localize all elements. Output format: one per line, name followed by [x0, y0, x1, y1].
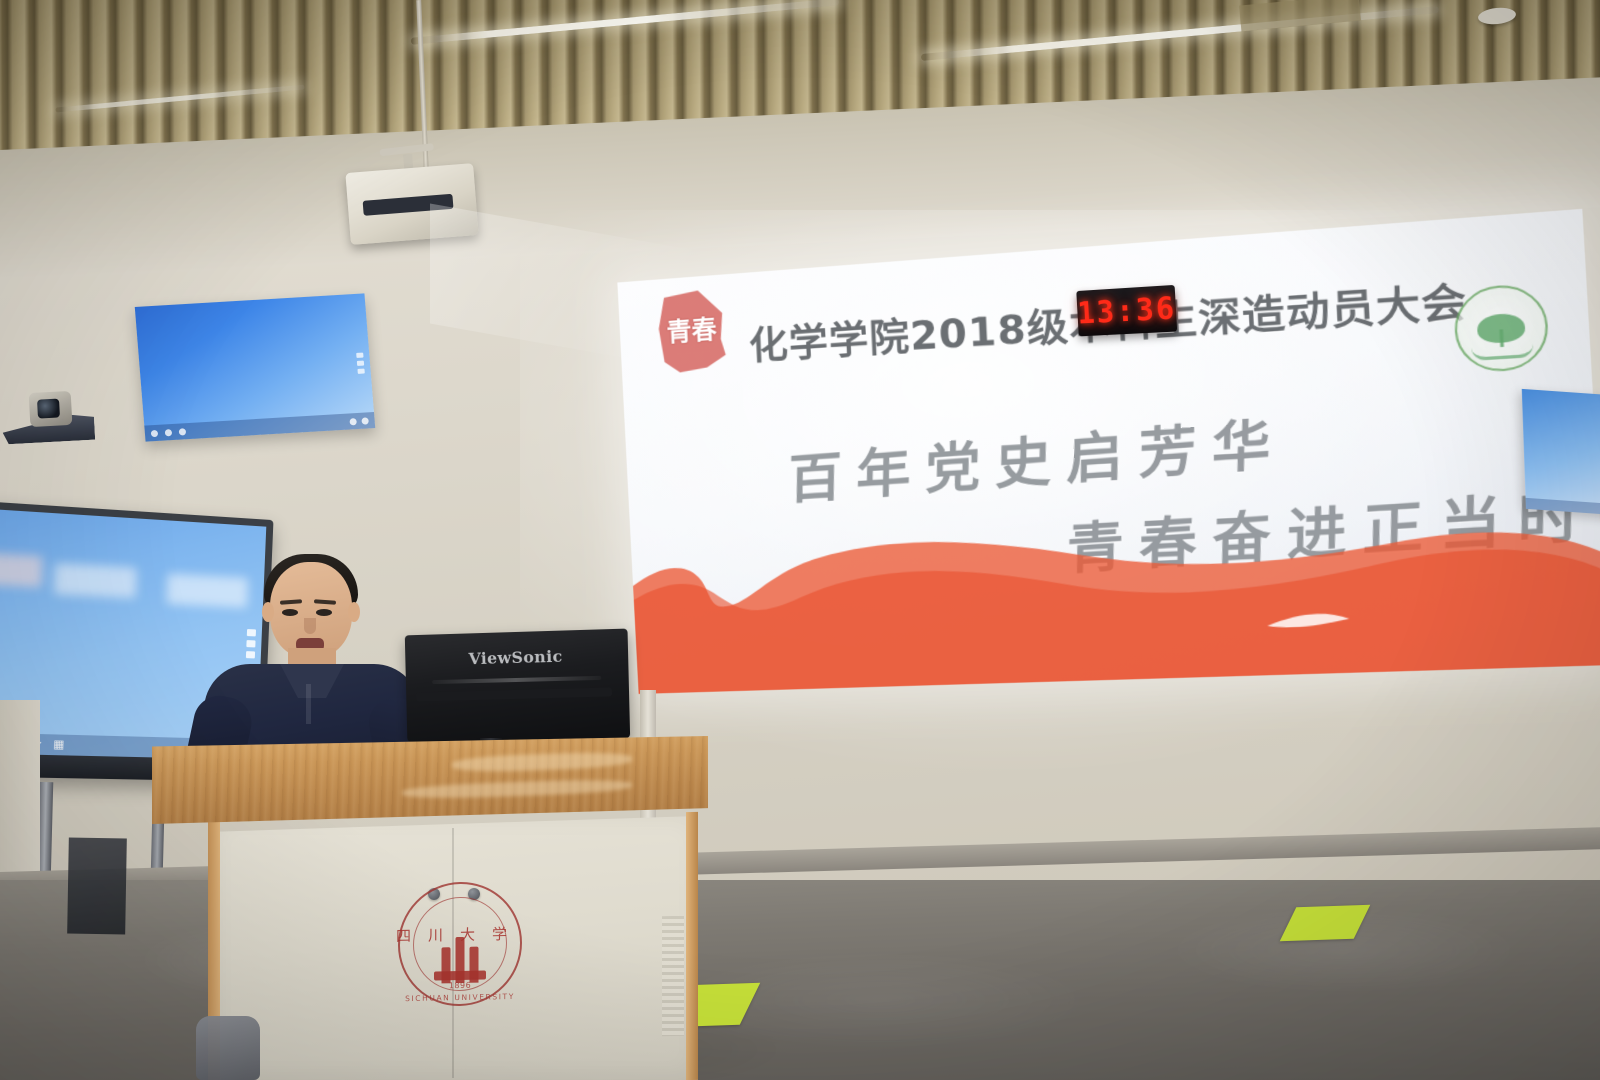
screen-icon — [356, 353, 363, 358]
grid-icon[interactable]: ▦ — [53, 739, 65, 751]
ribbon-svg — [630, 477, 1600, 694]
emblem-english-name: SICHUAN UNIVERSITY — [405, 992, 515, 1003]
podium-edge-trim — [686, 812, 698, 1080]
taskbar-icon — [179, 428, 187, 435]
desktop-tile — [0, 553, 43, 588]
taskbar-tray — [349, 417, 369, 425]
screen-icon — [357, 361, 364, 366]
podium-vent-grille — [662, 916, 684, 1036]
taskbar-icon — [151, 429, 159, 436]
projection-screen: 青春 化学学院2018级本科生深造动员大会 百年党史启芳华 青春奋进正当时 — [617, 209, 1600, 694]
speaker-eye — [282, 609, 298, 616]
monitor-brand-label: ViewSonic — [468, 647, 562, 669]
clock-time: 13:36 — [1076, 290, 1177, 330]
emblem-base-bar — [434, 971, 486, 981]
digital-wall-clock: 13:36 — [1076, 285, 1177, 336]
speaker-shirt-placket — [306, 684, 311, 724]
ceiling-projector — [345, 163, 478, 245]
monitor-back-panel — [405, 629, 630, 742]
desktop-tile — [54, 563, 137, 598]
lecture-hall-photo: 青春 化学学院2018级本科生深造动员大会 百年党史启芳华 青春奋进正当时 13… — [0, 0, 1600, 1080]
taskbar-icon — [165, 429, 173, 436]
speaker-eye — [316, 609, 332, 616]
chemistry-college-logo — [1452, 282, 1550, 374]
desk-monitor: ViewSonic — [405, 629, 630, 742]
youth-seal-stamp: 青春 — [656, 289, 728, 374]
floor-equipment-box — [67, 838, 127, 935]
wall-video-screen — [135, 293, 375, 441]
speaker-nose — [304, 618, 316, 634]
ptz-camera — [0, 384, 99, 453]
camera-lens-icon — [37, 399, 60, 419]
taskbar-icon — [349, 418, 357, 425]
red-ribbon-graphic — [630, 477, 1600, 694]
podium-wood-grain — [152, 736, 708, 824]
sichuan-university-emblem: 四川大学 1896 SICHUAN UNIVERSITY — [398, 881, 522, 1008]
speaker-ear — [348, 602, 360, 622]
taskbar-icon — [361, 417, 369, 424]
emblem-year: 1896 — [449, 981, 471, 990]
screen-icon — [357, 369, 364, 374]
seal-label: 青春 — [656, 289, 728, 374]
speaker-ear — [262, 602, 274, 622]
floor-bag — [196, 1016, 260, 1080]
logo-arc — [1471, 344, 1534, 361]
right-display-screen — [1522, 389, 1600, 515]
